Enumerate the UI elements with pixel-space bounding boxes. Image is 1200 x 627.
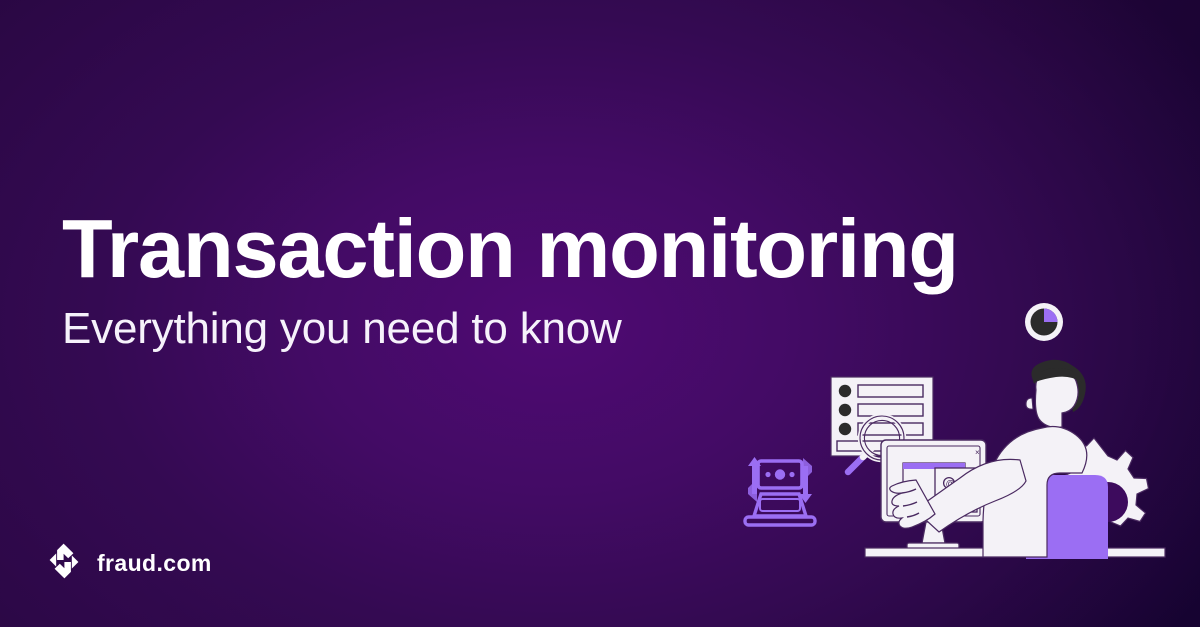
transaction-monitoring-illustration: .wh { fill:#f4f2f7; } .ln { fill:none; s…: [730, 280, 1200, 627]
logo-wordmark: fraud.com: [97, 550, 212, 577]
money-transfer-icon: [745, 457, 815, 525]
checklist-bullet: [839, 385, 851, 397]
brand-logo[interactable]: fraud.com: [44, 541, 212, 586]
pie-chart-icon: [1025, 303, 1063, 341]
checklist-bullet: [839, 404, 851, 416]
checklist-bullet: [839, 423, 851, 435]
window-close-icon: ×: [975, 448, 980, 457]
hero-banner: Transaction monitoring Everything you ne…: [0, 0, 1200, 627]
fraud-com-logo-mark-icon: [44, 541, 84, 586]
page-title: Transaction monitoring: [62, 206, 1042, 291]
